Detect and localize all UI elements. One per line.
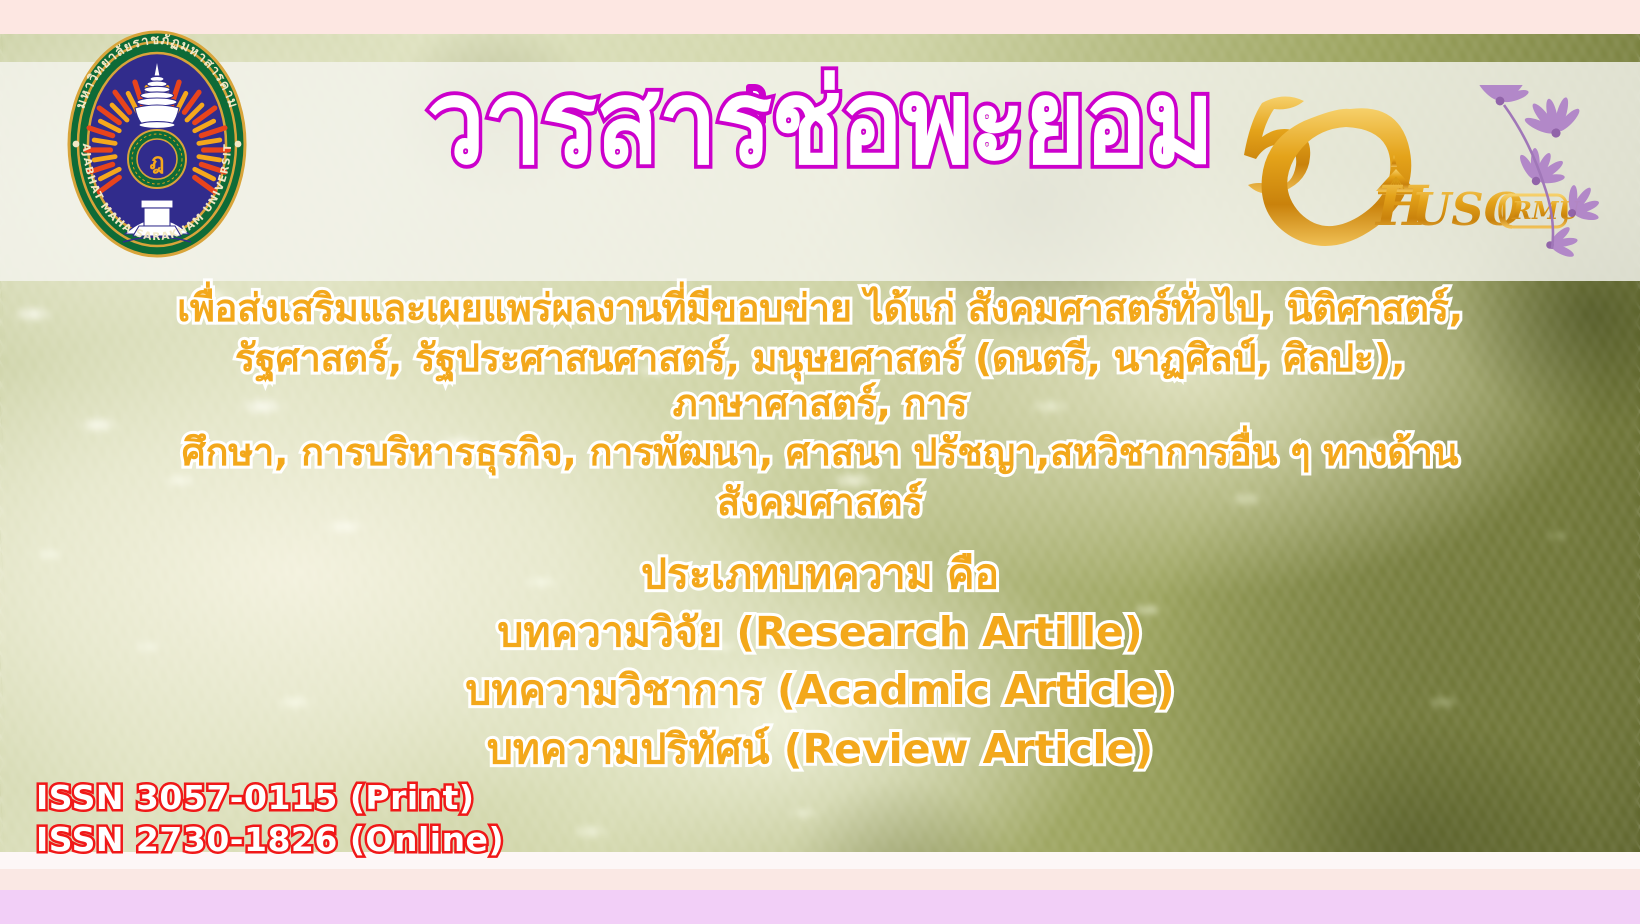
scope-line-1: เพื่อส่งเสริมและเผยแพร่ผลงานที่มีขอบข่าย…: [120, 286, 1520, 331]
article-type-academic: บทความวิชาการ (Acadmic Article): [120, 661, 1520, 719]
bottom-pink-band: [0, 869, 1640, 890]
scope-line-3: ศึกษา, การบริหารธุรกิจ, การพัฒนา, ศาสนา …: [120, 430, 1520, 475]
bottom-purple-band: [0, 890, 1640, 924]
svg-text:USO: USO: [1412, 183, 1523, 236]
article-types-block: ประเภทบทความ คือ บทความวิจัย (Research A…: [120, 545, 1520, 778]
journal-title-wrapper: วารสารช่อพะยอม: [0, 70, 1640, 174]
journal-cover: ฎ มหาวิทยาลัยราชภัฏมหาสารคาม RAJABHAT MA…: [0, 0, 1640, 924]
issn-print: ISSN 3057-0115 (Print): [36, 778, 475, 817]
journal-title: วารสารช่อพะยอม: [0, 64, 1640, 180]
scope-paragraph: เพื่อส่งเสริมและเผยแพร่ผลงานที่มีขอบข่าย…: [120, 286, 1520, 530]
scope-line-4: สังคมศาสตร์: [120, 480, 1520, 525]
scope-line-2: รัฐศาสตร์, รัฐประศาสนศาสตร์, มนุษยศาสตร์…: [120, 336, 1520, 426]
article-type-research: บทความวิจัย (Research Artille): [120, 603, 1520, 661]
issn-online: ISSN 2730-1826 (Online): [36, 820, 504, 859]
article-type-review: บทความปริทัศน์ (Review Article): [120, 720, 1520, 778]
article-types-heading: ประเภทบทความ คือ: [120, 545, 1520, 603]
